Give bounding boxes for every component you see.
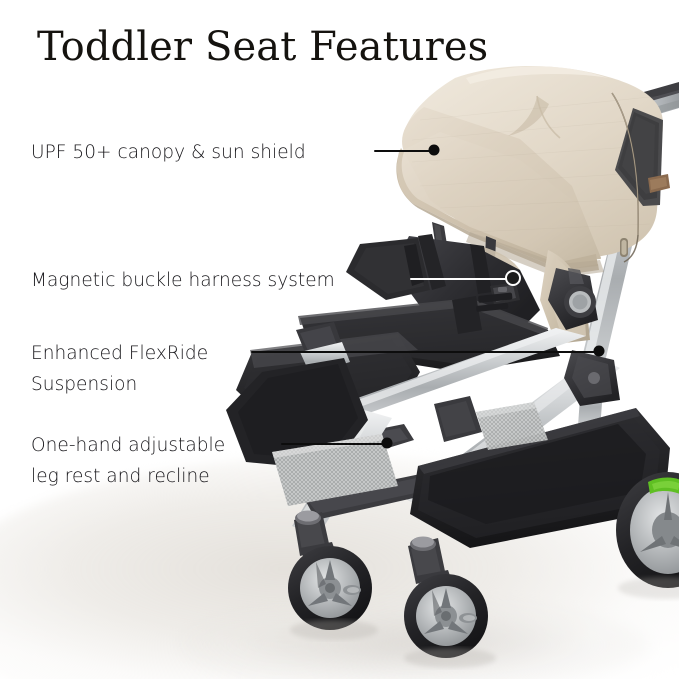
callout-label-suspension: Enhanced FlexRide Suspension: [31, 338, 208, 400]
leader-dot: [382, 438, 393, 449]
callout-label-canopy: UPF 50+ canopy & sun shield: [31, 137, 306, 168]
leader-dot: [429, 145, 440, 156]
leader-bar: [281, 443, 387, 445]
leader-dot: [505, 270, 521, 286]
page-title: Toddler Seat Features: [37, 26, 488, 69]
leader-dot: [594, 346, 605, 357]
callout-label-harness: Magnetic buckle harness system: [31, 265, 335, 296]
callout-label-legrest: One-hand adjustable leg rest and recline: [31, 430, 225, 492]
leader-bar: [410, 278, 513, 280]
leader-bar: [251, 351, 599, 353]
leader-bar: [374, 150, 434, 152]
screenshot-canvas: Toddler Seat Features UPF 50+ canopy & s…: [0, 0, 679, 679]
front-wheel-left: [288, 511, 372, 631]
front-wheel-right: [404, 537, 488, 659]
zipper-pull: [620, 238, 628, 257]
